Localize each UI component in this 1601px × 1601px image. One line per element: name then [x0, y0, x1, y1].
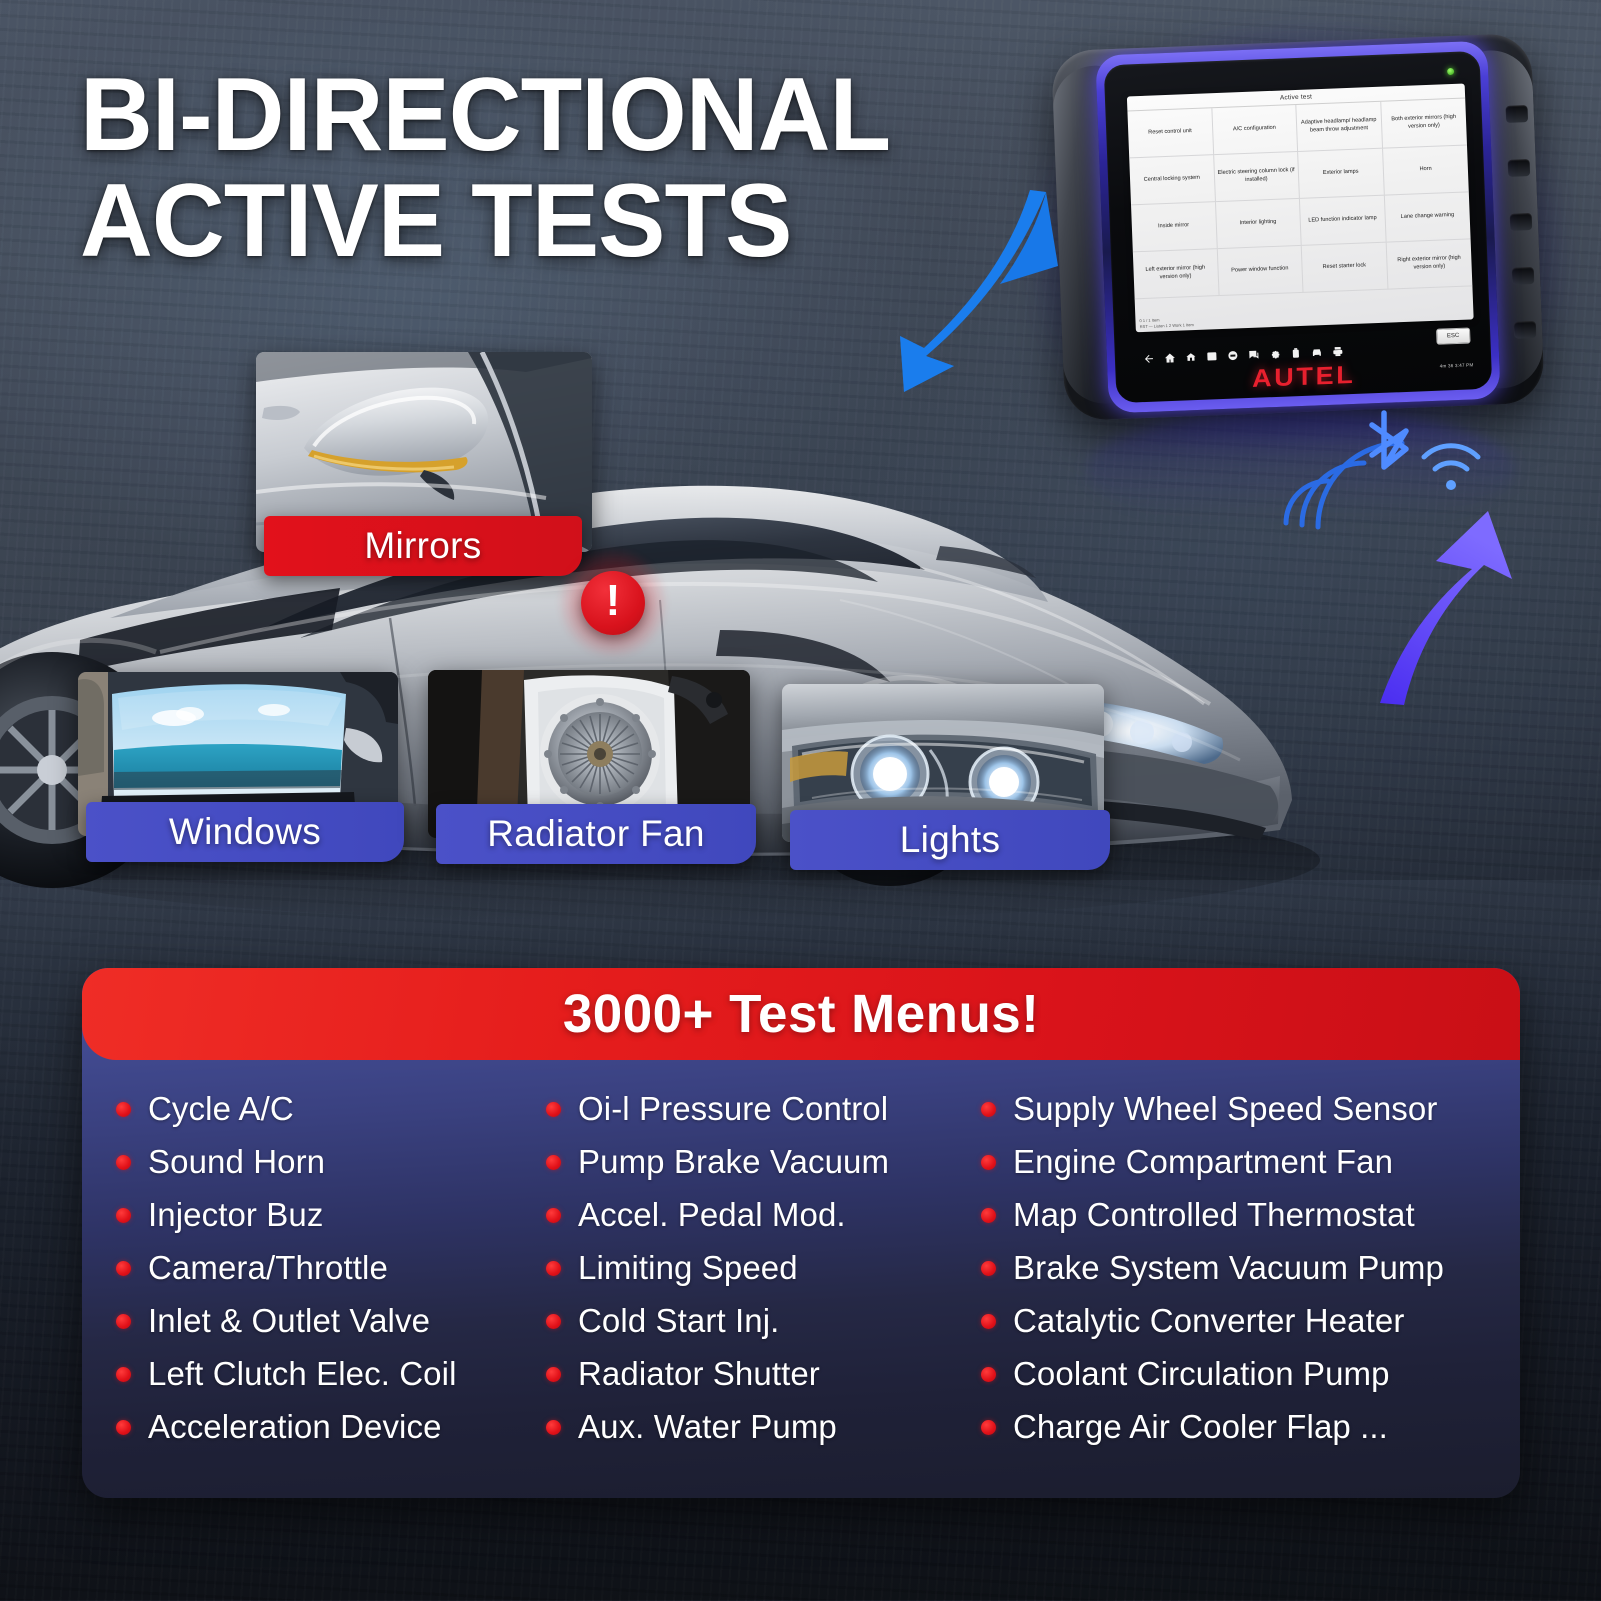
house-icon[interactable] [1185, 351, 1197, 363]
test-menu-item-label: Inlet & Outlet Valve [148, 1302, 430, 1340]
test-menu-item: Cold Start Inj. [546, 1302, 981, 1340]
feedback-icon[interactable] [1248, 349, 1260, 361]
bullet-icon [981, 1102, 996, 1117]
feature-card-radiator-fan[interactable]: Radiator Fan [428, 670, 750, 838]
feature-card-windows[interactable]: Windows [78, 672, 398, 836]
home-icon[interactable] [1164, 352, 1176, 364]
screenshot-icon[interactable] [1206, 350, 1218, 362]
bullet-icon [981, 1420, 996, 1435]
active-test-menu-cell[interactable]: Left exterior mirror (high version only) [1133, 249, 1219, 299]
test-menu-column: Cycle A/CSound HornInjector BuzCamera/Th… [116, 1090, 546, 1446]
test-menu-item-label: Radiator Shutter [578, 1355, 820, 1393]
test-menus-panel: 3000+ Test Menus! Cycle A/CSound HornInj… [82, 968, 1520, 1498]
card-label-mirrors: Mirrors [264, 516, 582, 576]
tablet-screen[interactable]: Active test Reset control unitA/C config… [1127, 83, 1474, 332]
headline-line-1: BI-DIRECTIONAL [80, 62, 1011, 168]
active-test-menu-grid[interactable]: Reset control unitA/C configurationAdapt… [1127, 98, 1472, 299]
test-menu-item: Map Controlled Thermostat [981, 1196, 1520, 1234]
purple-arrow-up-icon [1360, 465, 1525, 710]
active-test-menu-cell[interactable]: Reset control unit [1127, 108, 1213, 158]
vehicle-icon[interactable] [1311, 346, 1323, 358]
test-menu-item-label: Charge Air Cooler Flap ... [1013, 1408, 1388, 1446]
bullet-icon [981, 1367, 996, 1382]
test-menu-item-label: Limiting Speed [578, 1249, 798, 1287]
active-test-menu-cell[interactable]: Adaptive headlamp/ headlamp beam throw a… [1296, 102, 1382, 152]
test-menu-item: Cycle A/C [116, 1090, 546, 1128]
active-test-menu-cell[interactable]: Central locking system [1129, 155, 1215, 205]
test-menu-item-label: Camera/Throttle [148, 1249, 388, 1287]
test-menu-item-label: Map Controlled Thermostat [1013, 1196, 1415, 1234]
bullet-icon [116, 1102, 131, 1117]
active-test-menu-cell[interactable]: Electric steering column lock (if instal… [1214, 152, 1300, 202]
warning-badge: ! [572, 562, 654, 644]
active-test-menu-cell[interactable]: Right exterior mirror (high version only… [1386, 239, 1472, 289]
active-test-menu-cell[interactable]: Inside mirror [1131, 202, 1217, 252]
headline-line-2: ACTIVE TESTS [80, 168, 1011, 274]
bullet-icon [116, 1314, 131, 1329]
test-menu-item-label: Oi-l Pressure Control [578, 1090, 888, 1128]
test-menu-item: Brake System Vacuum Pump [981, 1249, 1520, 1287]
test-menu-item-label: Catalytic Converter Heater [1013, 1302, 1404, 1340]
feature-card-lights[interactable]: Lights [782, 684, 1104, 842]
bullet-icon [546, 1420, 561, 1435]
active-test-menu-cell[interactable]: Power window function [1217, 246, 1303, 296]
bullet-icon [546, 1208, 561, 1223]
test-menu-column: Supply Wheel Speed SensorEngine Compartm… [981, 1090, 1520, 1446]
test-menu-item: Oi-l Pressure Control [546, 1090, 981, 1128]
test-menu-item-label: Cold Start Inj. [578, 1302, 779, 1340]
test-menu-item-label: Left Clutch Elec. Coil [148, 1355, 457, 1393]
test-menu-item: Supply Wheel Speed Sensor [981, 1090, 1520, 1128]
feature-card-mirrors[interactable]: Mirrors [256, 352, 592, 552]
test-menu-item-label: Supply Wheel Speed Sensor [1013, 1090, 1437, 1128]
exclamation-icon: ! [606, 579, 621, 623]
battery-icon[interactable] [1290, 347, 1302, 359]
test-menu-item: Pump Brake Vacuum [546, 1143, 981, 1181]
bullet-icon [116, 1420, 131, 1435]
bullet-icon [546, 1314, 561, 1329]
test-menu-item: Inlet & Outlet Valve [116, 1302, 546, 1340]
test-menu-item-label: Engine Compartment Fan [1013, 1143, 1393, 1181]
test-menu-item: Injector Buz [116, 1196, 546, 1234]
bullet-icon [981, 1208, 996, 1223]
card-label-radiator-fan: Radiator Fan [436, 804, 756, 864]
test-menu-item: Limiting Speed [546, 1249, 981, 1287]
active-test-menu-cell[interactable]: Lane change warning [1384, 192, 1470, 242]
test-menu-item: Aux. Water Pump [546, 1408, 981, 1446]
bullet-icon [116, 1367, 131, 1382]
test-menu-item-label: Sound Horn [148, 1143, 325, 1181]
active-test-menu-cell[interactable]: Exterior lamps [1298, 149, 1384, 199]
bullet-icon [981, 1314, 996, 1329]
active-test-menu-cell[interactable]: LED function indicator lamp [1300, 196, 1386, 246]
bullet-icon [981, 1155, 996, 1170]
print-icon[interactable] [1332, 345, 1344, 357]
record-icon[interactable] [1227, 349, 1239, 361]
bullet-icon [546, 1261, 561, 1276]
bullet-icon [116, 1155, 131, 1170]
test-menu-item: Accel. Pedal Mod. [546, 1196, 981, 1234]
camera-led-indicator [1447, 68, 1454, 75]
active-test-menu-cell[interactable]: Reset starter lock [1302, 243, 1388, 293]
headline: BI-DIRECTIONAL ACTIVE TESTS [80, 62, 1040, 274]
test-menu-item: Charge Air Cooler Flap ... [981, 1408, 1520, 1446]
bullet-icon [546, 1102, 561, 1117]
test-menu-item-label: Coolant Circulation Pump [1013, 1355, 1390, 1393]
autel-diagnostic-tablet: Active test Reset control unitA/C config… [1051, 33, 1545, 421]
bullet-icon [116, 1208, 131, 1223]
test-menu-item: Coolant Circulation Pump [981, 1355, 1520, 1393]
test-menu-item-label: Aux. Water Pump [578, 1408, 837, 1446]
infographic-canvas: BI-DIRECTIONAL ACTIVE TESTS [0, 0, 1601, 1601]
bullet-icon [546, 1155, 561, 1170]
test-menu-item: Radiator Shutter [546, 1355, 981, 1393]
test-menu-item-label: Acceleration Device [148, 1408, 442, 1446]
test-menu-item: Camera/Throttle [116, 1249, 546, 1287]
active-test-menu-cell[interactable]: Interior lighting [1215, 199, 1301, 249]
bullet-icon [116, 1261, 131, 1276]
bluetooth-icon [1372, 413, 1406, 467]
test-menus-header-title: 3000+ Test Menus! [563, 983, 1039, 1045]
test-menu-item: Engine Compartment Fan [981, 1143, 1520, 1181]
test-menu-item: Left Clutch Elec. Coil [116, 1355, 546, 1393]
active-test-menu-cell[interactable]: Horn [1383, 145, 1469, 195]
warning-circle: ! [581, 571, 645, 635]
test-menu-column: Oi-l Pressure ControlPump Brake VacuumAc… [546, 1090, 981, 1446]
test-menu-item: Sound Horn [116, 1143, 546, 1181]
card-label-windows: Windows [86, 802, 404, 862]
tablet-body: Active test Reset control unitA/C config… [1051, 33, 1545, 421]
active-test-menu-cell[interactable]: Both exterior mirrors (high version only… [1381, 98, 1467, 148]
test-menu-item-label: Pump Brake Vacuum [578, 1143, 889, 1181]
card-label-lights: Lights [790, 810, 1110, 870]
test-menu-item: Catalytic Converter Heater [981, 1302, 1520, 1340]
test-menus-columns: Cycle A/CSound HornInjector BuzCamera/Th… [82, 1060, 1520, 1466]
tablet-bezel: Active test Reset control unitA/C config… [1104, 51, 1493, 403]
back-icon[interactable] [1143, 353, 1155, 365]
test-menu-item-label: Brake System Vacuum Pump [1013, 1249, 1444, 1287]
test-menu-item-label: Injector Buz [148, 1196, 323, 1234]
bullet-icon [546, 1367, 561, 1382]
bullet-icon [981, 1261, 996, 1276]
test-menu-item: Acceleration Device [116, 1408, 546, 1446]
test-menus-header: 3000+ Test Menus! [82, 968, 1520, 1060]
test-menu-item-label: Accel. Pedal Mod. [578, 1196, 846, 1234]
active-test-menu-cell[interactable]: A/C configuration [1212, 105, 1298, 155]
settings-gear-icon[interactable] [1269, 348, 1281, 360]
test-menu-item-label: Cycle A/C [148, 1090, 294, 1128]
screen-footnote: 0 1 / 1 Item RST — Listen 1 2 Work 1 Ite… [1139, 316, 1194, 330]
